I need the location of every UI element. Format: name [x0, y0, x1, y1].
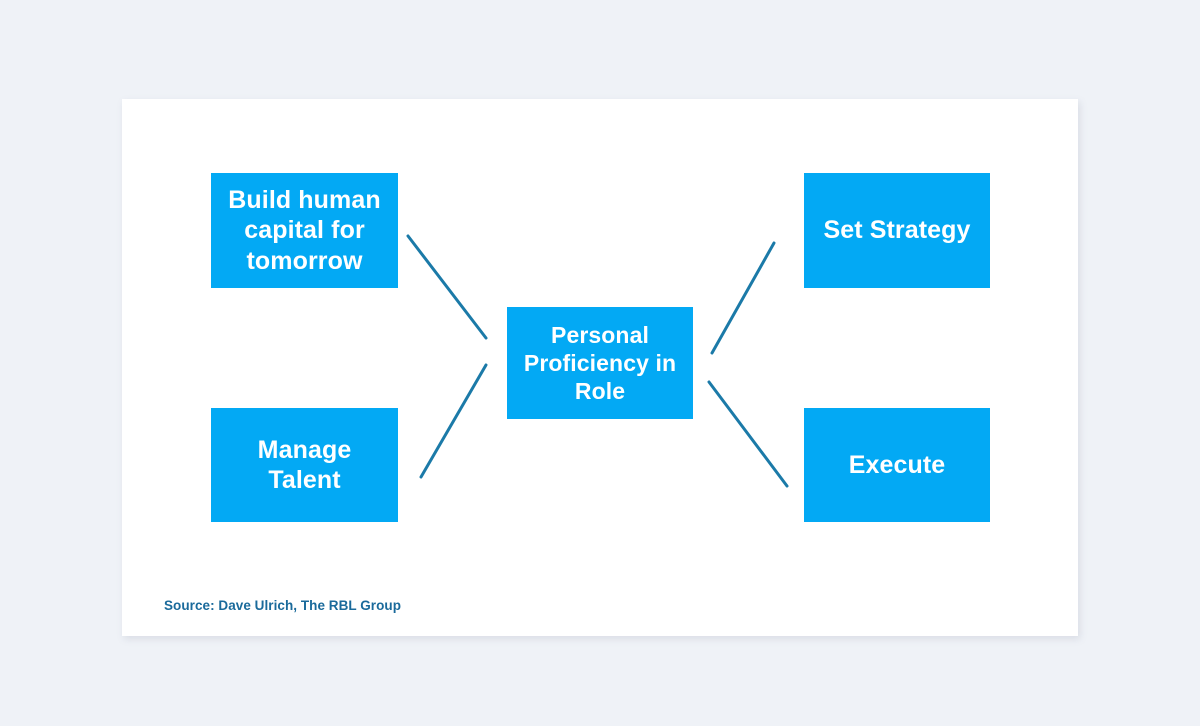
node-build-human-capital[interactable]: Build human capital for tomorrow [211, 173, 398, 288]
node-set-strategy[interactable]: Set Strategy [804, 173, 990, 288]
diagram-stage: Build human capital for tomorrow Manage … [0, 0, 1200, 726]
node-manage-talent[interactable]: Manage Talent [211, 408, 398, 522]
source-attribution: Source: Dave Ulrich, The RBL Group [164, 598, 401, 613]
node-personal-proficiency-in-role[interactable]: Personal Proficiency in Role [507, 307, 693, 419]
node-execute[interactable]: Execute [804, 408, 990, 522]
